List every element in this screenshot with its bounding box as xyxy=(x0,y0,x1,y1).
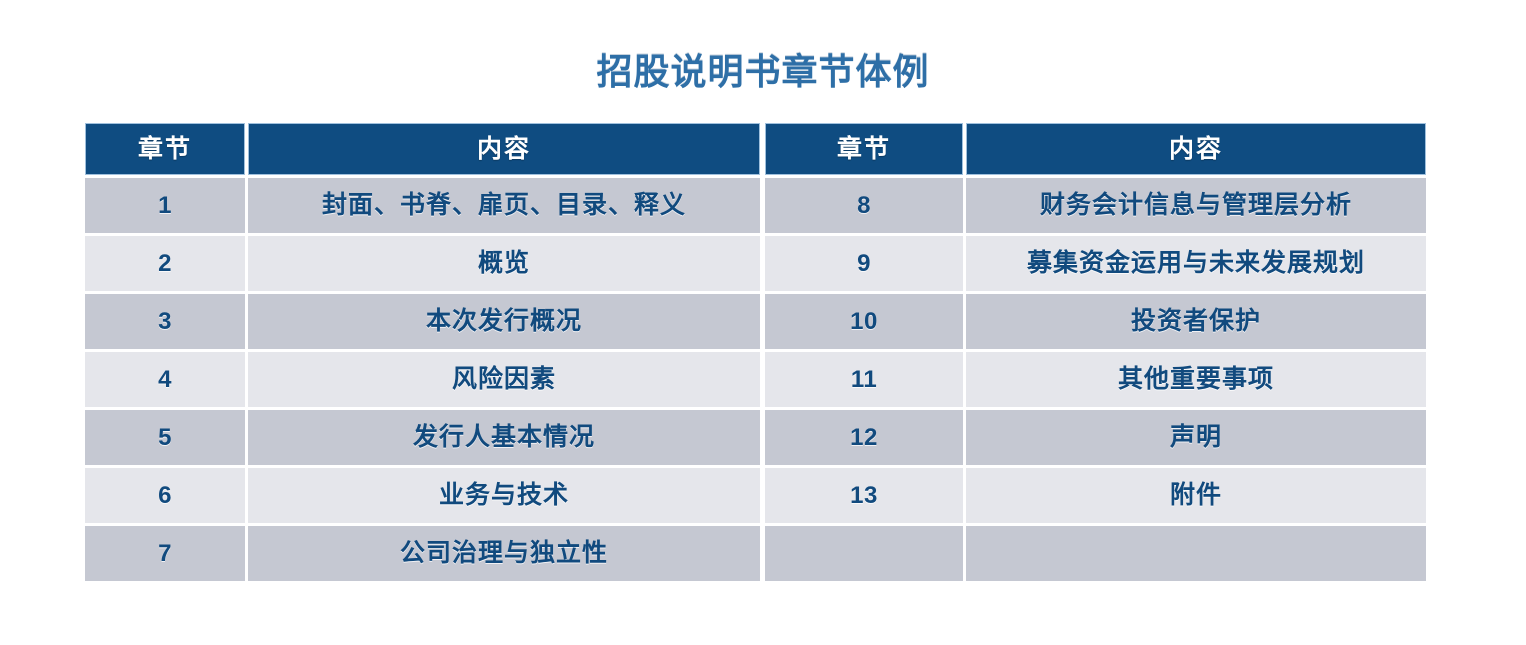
table-header-row-left: 章节 内容 xyxy=(85,123,760,175)
header-chapter-left: 章节 xyxy=(85,123,245,175)
table-row: 8 财务会计信息与管理层分析 xyxy=(765,178,1426,233)
table-row: 4 风险因素 xyxy=(85,352,760,407)
table-row: 7 公司治理与独立性 xyxy=(85,526,760,581)
cell-chapter: 8 xyxy=(765,178,963,233)
table-row: 13 附件 xyxy=(765,468,1426,523)
table-row: 11 其他重要事项 xyxy=(765,352,1426,407)
page-root: 招股说明书章节体例 章节 内容 1 封面、书脊、扉页、目录、释义 2 概览 3 … xyxy=(0,0,1526,645)
cell-chapter: 11 xyxy=(765,352,963,407)
header-chapter-right: 章节 xyxy=(765,123,963,175)
cell-content: 业务与技术 xyxy=(248,468,760,523)
cell-chapter: 7 xyxy=(85,526,245,581)
table-left-half: 章节 内容 1 封面、书脊、扉页、目录、释义 2 概览 3 本次发行概况 4 风… xyxy=(85,123,760,581)
cell-chapter: 5 xyxy=(85,410,245,465)
cell-chapter: 2 xyxy=(85,236,245,291)
title-container: 招股说明书章节体例 xyxy=(0,26,1526,117)
table-header-row-right: 章节 内容 xyxy=(765,123,1426,175)
table-right-half: 章节 内容 8 财务会计信息与管理层分析 9 募集资金运用与未来发展规划 10 … xyxy=(765,123,1426,581)
cell-content: 其他重要事项 xyxy=(966,352,1426,407)
cell-content: 声明 xyxy=(966,410,1426,465)
table-row: 10 投资者保护 xyxy=(765,294,1426,349)
cell-chapter: 10 xyxy=(765,294,963,349)
table-row-empty xyxy=(765,526,1426,581)
cell-chapter: 4 xyxy=(85,352,245,407)
cell-content: 公司治理与独立性 xyxy=(248,526,760,581)
table-row: 1 封面、书脊、扉页、目录、释义 xyxy=(85,178,760,233)
table-row: 2 概览 xyxy=(85,236,760,291)
header-content-left: 内容 xyxy=(248,123,760,175)
cell-chapter xyxy=(765,526,963,581)
cell-content: 本次发行概况 xyxy=(248,294,760,349)
cell-chapter: 1 xyxy=(85,178,245,233)
cell-chapter: 12 xyxy=(765,410,963,465)
cell-content: 发行人基本情况 xyxy=(248,410,760,465)
cell-chapter: 13 xyxy=(765,468,963,523)
cell-content: 封面、书脊、扉页、目录、释义 xyxy=(248,178,760,233)
cell-content xyxy=(966,526,1426,581)
table-row: 9 募集资金运用与未来发展规划 xyxy=(765,236,1426,291)
chapter-structure-table: 章节 内容 1 封面、书脊、扉页、目录、释义 2 概览 3 本次发行概况 4 风… xyxy=(85,123,1426,581)
table-row: 3 本次发行概况 xyxy=(85,294,760,349)
page-title: 招股说明书章节体例 xyxy=(596,50,929,93)
header-content-right: 内容 xyxy=(966,123,1426,175)
cell-content: 附件 xyxy=(966,468,1426,523)
cell-content: 概览 xyxy=(248,236,760,291)
cell-chapter: 9 xyxy=(765,236,963,291)
cell-chapter: 3 xyxy=(85,294,245,349)
table-row: 12 声明 xyxy=(765,410,1426,465)
table-row: 6 业务与技术 xyxy=(85,468,760,523)
cell-content: 投资者保护 xyxy=(966,294,1426,349)
cell-chapter: 6 xyxy=(85,468,245,523)
table-row: 5 发行人基本情况 xyxy=(85,410,760,465)
cell-content: 财务会计信息与管理层分析 xyxy=(966,178,1426,233)
cell-content: 风险因素 xyxy=(248,352,760,407)
cell-content: 募集资金运用与未来发展规划 xyxy=(966,236,1426,291)
